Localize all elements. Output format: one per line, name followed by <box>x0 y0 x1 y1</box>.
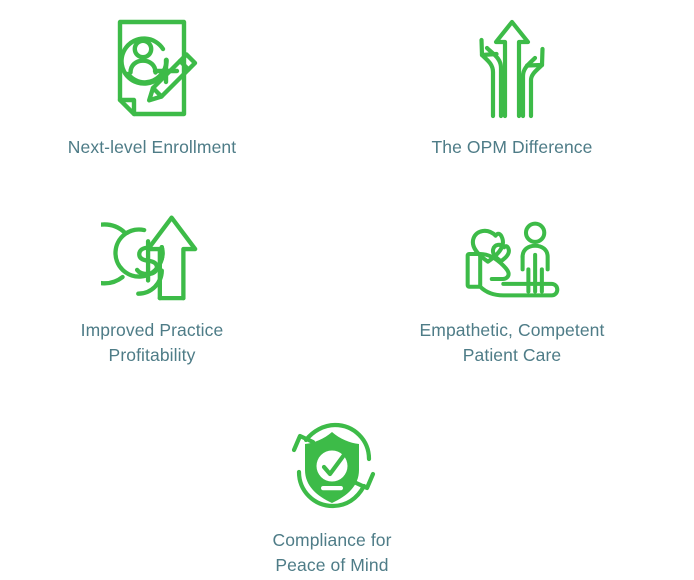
feature-grid: Next-level Enrollment <box>0 0 694 580</box>
feature-label: Next-level Enrollment <box>68 135 236 160</box>
hand-heart-person-icon <box>459 202 565 304</box>
icon-container <box>460 14 564 120</box>
icon-container <box>101 200 203 304</box>
document-person-add-pencil-icon <box>100 16 204 120</box>
feature-label: Empathetic, Competent Patient Care <box>420 318 605 368</box>
feature-card-profitability[interactable]: Improved Practice Profitability <box>2 200 302 368</box>
feature-card-opm[interactable]: The OPM Difference <box>362 14 662 160</box>
three-growth-arrows-icon <box>460 16 564 120</box>
feature-label: Improved Practice Profitability <box>81 318 224 368</box>
feature-label: Compliance for Peace of Mind <box>272 528 391 578</box>
feature-label: The OPM Difference <box>432 135 593 160</box>
icon-container <box>100 14 204 120</box>
feature-card-compliance[interactable]: Compliance for Peace of Mind <box>182 410 482 578</box>
icon-container <box>459 200 565 304</box>
shield-check-refresh-icon <box>280 414 384 514</box>
feature-card-enrollment[interactable]: Next-level Enrollment <box>2 14 302 160</box>
feature-card-patient-care[interactable]: Empathetic, Competent Patient Care <box>362 200 662 368</box>
icon-container <box>280 410 384 514</box>
dollar-coin-up-arrow-icon <box>101 202 203 304</box>
